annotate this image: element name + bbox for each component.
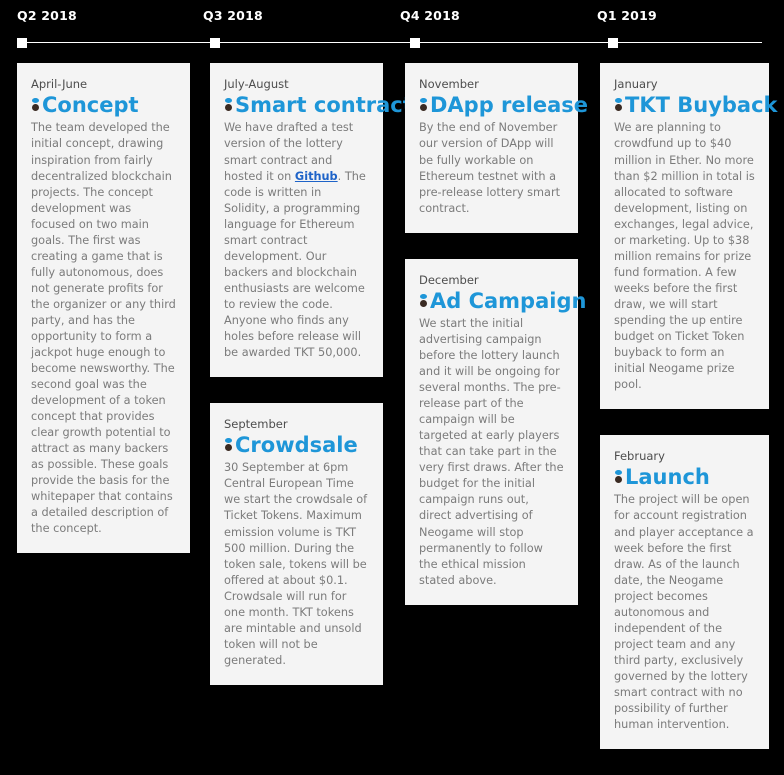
card-date: September [224,417,369,432]
quarter-label-q1-2019: Q1 2019 [597,8,657,23]
person-icon [224,437,233,454]
roadmap-card-concept: April-June Concept The team developed th… [17,63,190,553]
roadmap-column-q4-2018: November DApp release By the end of Nove… [405,63,578,631]
quarter-label-q3-2018: Q3 2018 [203,8,263,23]
card-body: We are planning to crowdfund up to $40 m… [614,120,755,393]
card-date: December [419,273,564,288]
roadmap-card-crowdsale: September Crowdsale 30 September at 6pm … [210,403,383,685]
person-icon [614,97,623,114]
github-link[interactable]: Github [295,170,338,183]
card-title-row: Crowdsale [224,434,369,458]
card-body: The project will be open for account reg… [614,492,755,732]
card-title-row: Ad Campaign [419,290,564,314]
card-body: The team developed the initial concept, … [31,120,176,537]
card-title-text: DApp release [430,94,588,118]
card-title-row: DApp release [419,94,564,118]
roadmap-card-smart-contract: July-August Smart contract We have draft… [210,63,383,377]
roadmap-card-launch: February Launch The project will be open… [600,435,769,749]
card-body: 30 September at 6pm Central European Tim… [224,460,369,668]
card-date: November [419,77,564,92]
timeline-marker-q2-2018[interactable] [17,38,27,48]
person-icon [419,293,428,310]
timeline-axis: Q2 2018 Q3 2018 Q4 2018 Q1 2019 [0,0,784,55]
card-date: July-August [224,77,369,92]
timeline-marker-q4-2018[interactable] [410,38,420,48]
roadmap-column-q3-2018: July-August Smart contract We have draft… [210,63,383,711]
roadmap-column-q2-2018: April-June Concept The team developed th… [17,63,190,579]
card-title-text: TKT Buyback [625,94,778,118]
timeline-marker-q1-2019[interactable] [608,38,618,48]
quarter-label-q2-2018: Q2 2018 [17,8,77,23]
roadmap-card-dapp-release: November DApp release By the end of Nove… [405,63,578,233]
person-icon [224,97,233,114]
card-title-text: Launch [625,466,710,490]
timeline-line [22,42,762,43]
card-body: We have drafted a test version of the lo… [224,120,369,360]
roadmap-card-tkt-buyback: January TKT Buyback We are planning to c… [600,63,769,409]
card-date: February [614,449,755,464]
person-icon [614,469,623,486]
timeline-marker-q3-2018[interactable] [210,38,220,48]
card-title-row: Concept [31,94,176,118]
card-title-text: Ad Campaign [430,290,586,314]
person-icon [419,97,428,114]
card-body: We start the initial advertising campaig… [419,316,564,589]
quarter-label-q4-2018: Q4 2018 [400,8,460,23]
card-body-part-2: . The code is written in Solidity, a pro… [224,170,366,359]
roadmap-columns: April-June Concept The team developed th… [0,63,784,521]
roadmap-card-ad-campaign: December Ad Campaign We start the initia… [405,259,578,605]
card-title-text: Concept [42,94,139,118]
card-body: By the end of November our version of DA… [419,120,564,216]
person-icon [31,97,40,114]
card-title-row: Smart contract [224,94,369,118]
card-date: January [614,77,755,92]
card-title-row: TKT Buyback [614,94,755,118]
card-title-text: Crowdsale [235,434,358,458]
card-date: April-June [31,77,176,92]
card-title-text: Smart contract [235,94,413,118]
card-title-row: Launch [614,466,755,490]
roadmap-column-q1-2019: January TKT Buyback We are planning to c… [600,63,769,775]
